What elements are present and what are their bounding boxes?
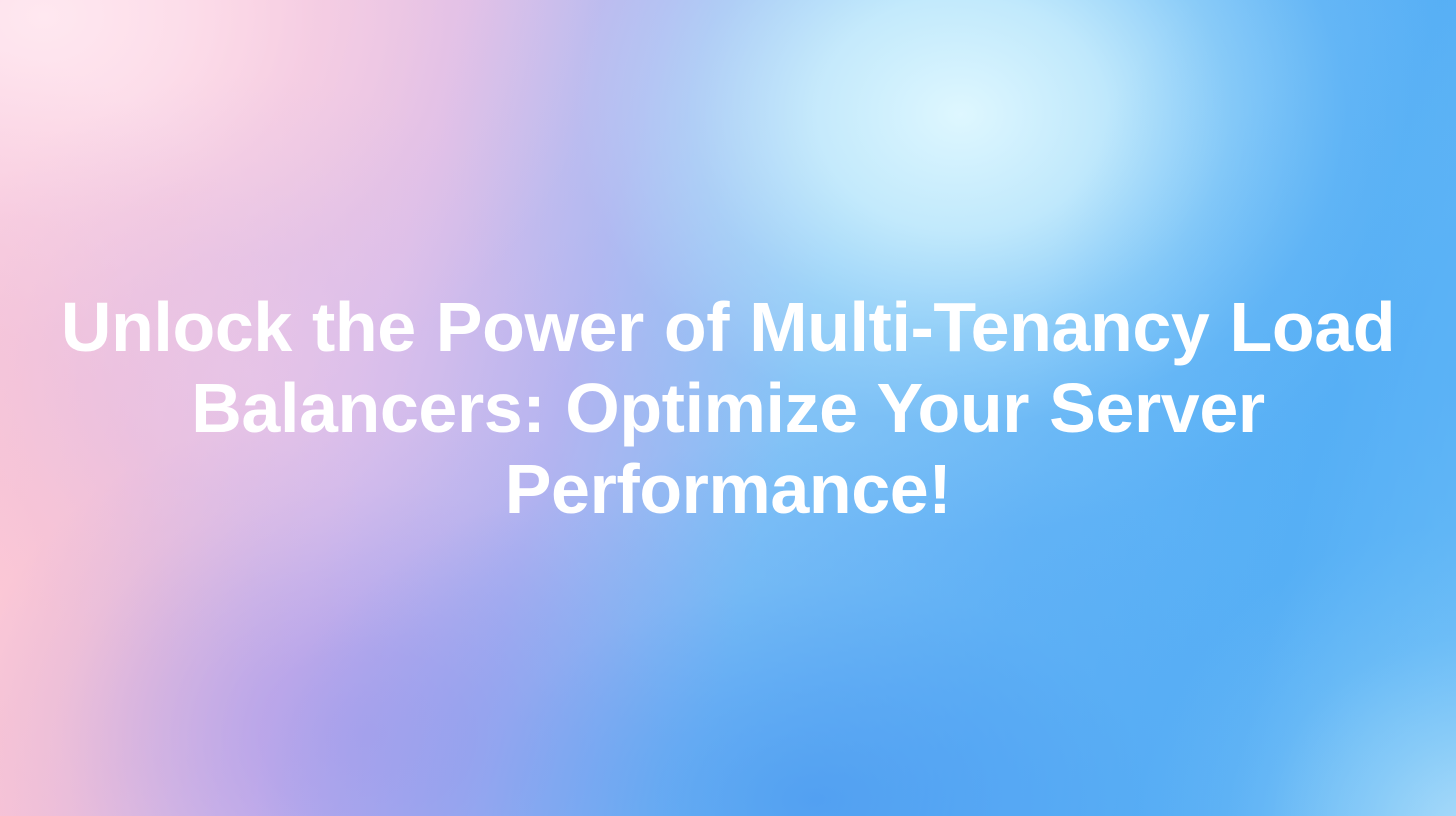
page-title: Unlock the Power of Multi-Tenancy Load B… [40,287,1416,530]
headline-container: Unlock the Power of Multi-Tenancy Load B… [0,287,1456,530]
hero-banner: Unlock the Power of Multi-Tenancy Load B… [0,0,1456,816]
